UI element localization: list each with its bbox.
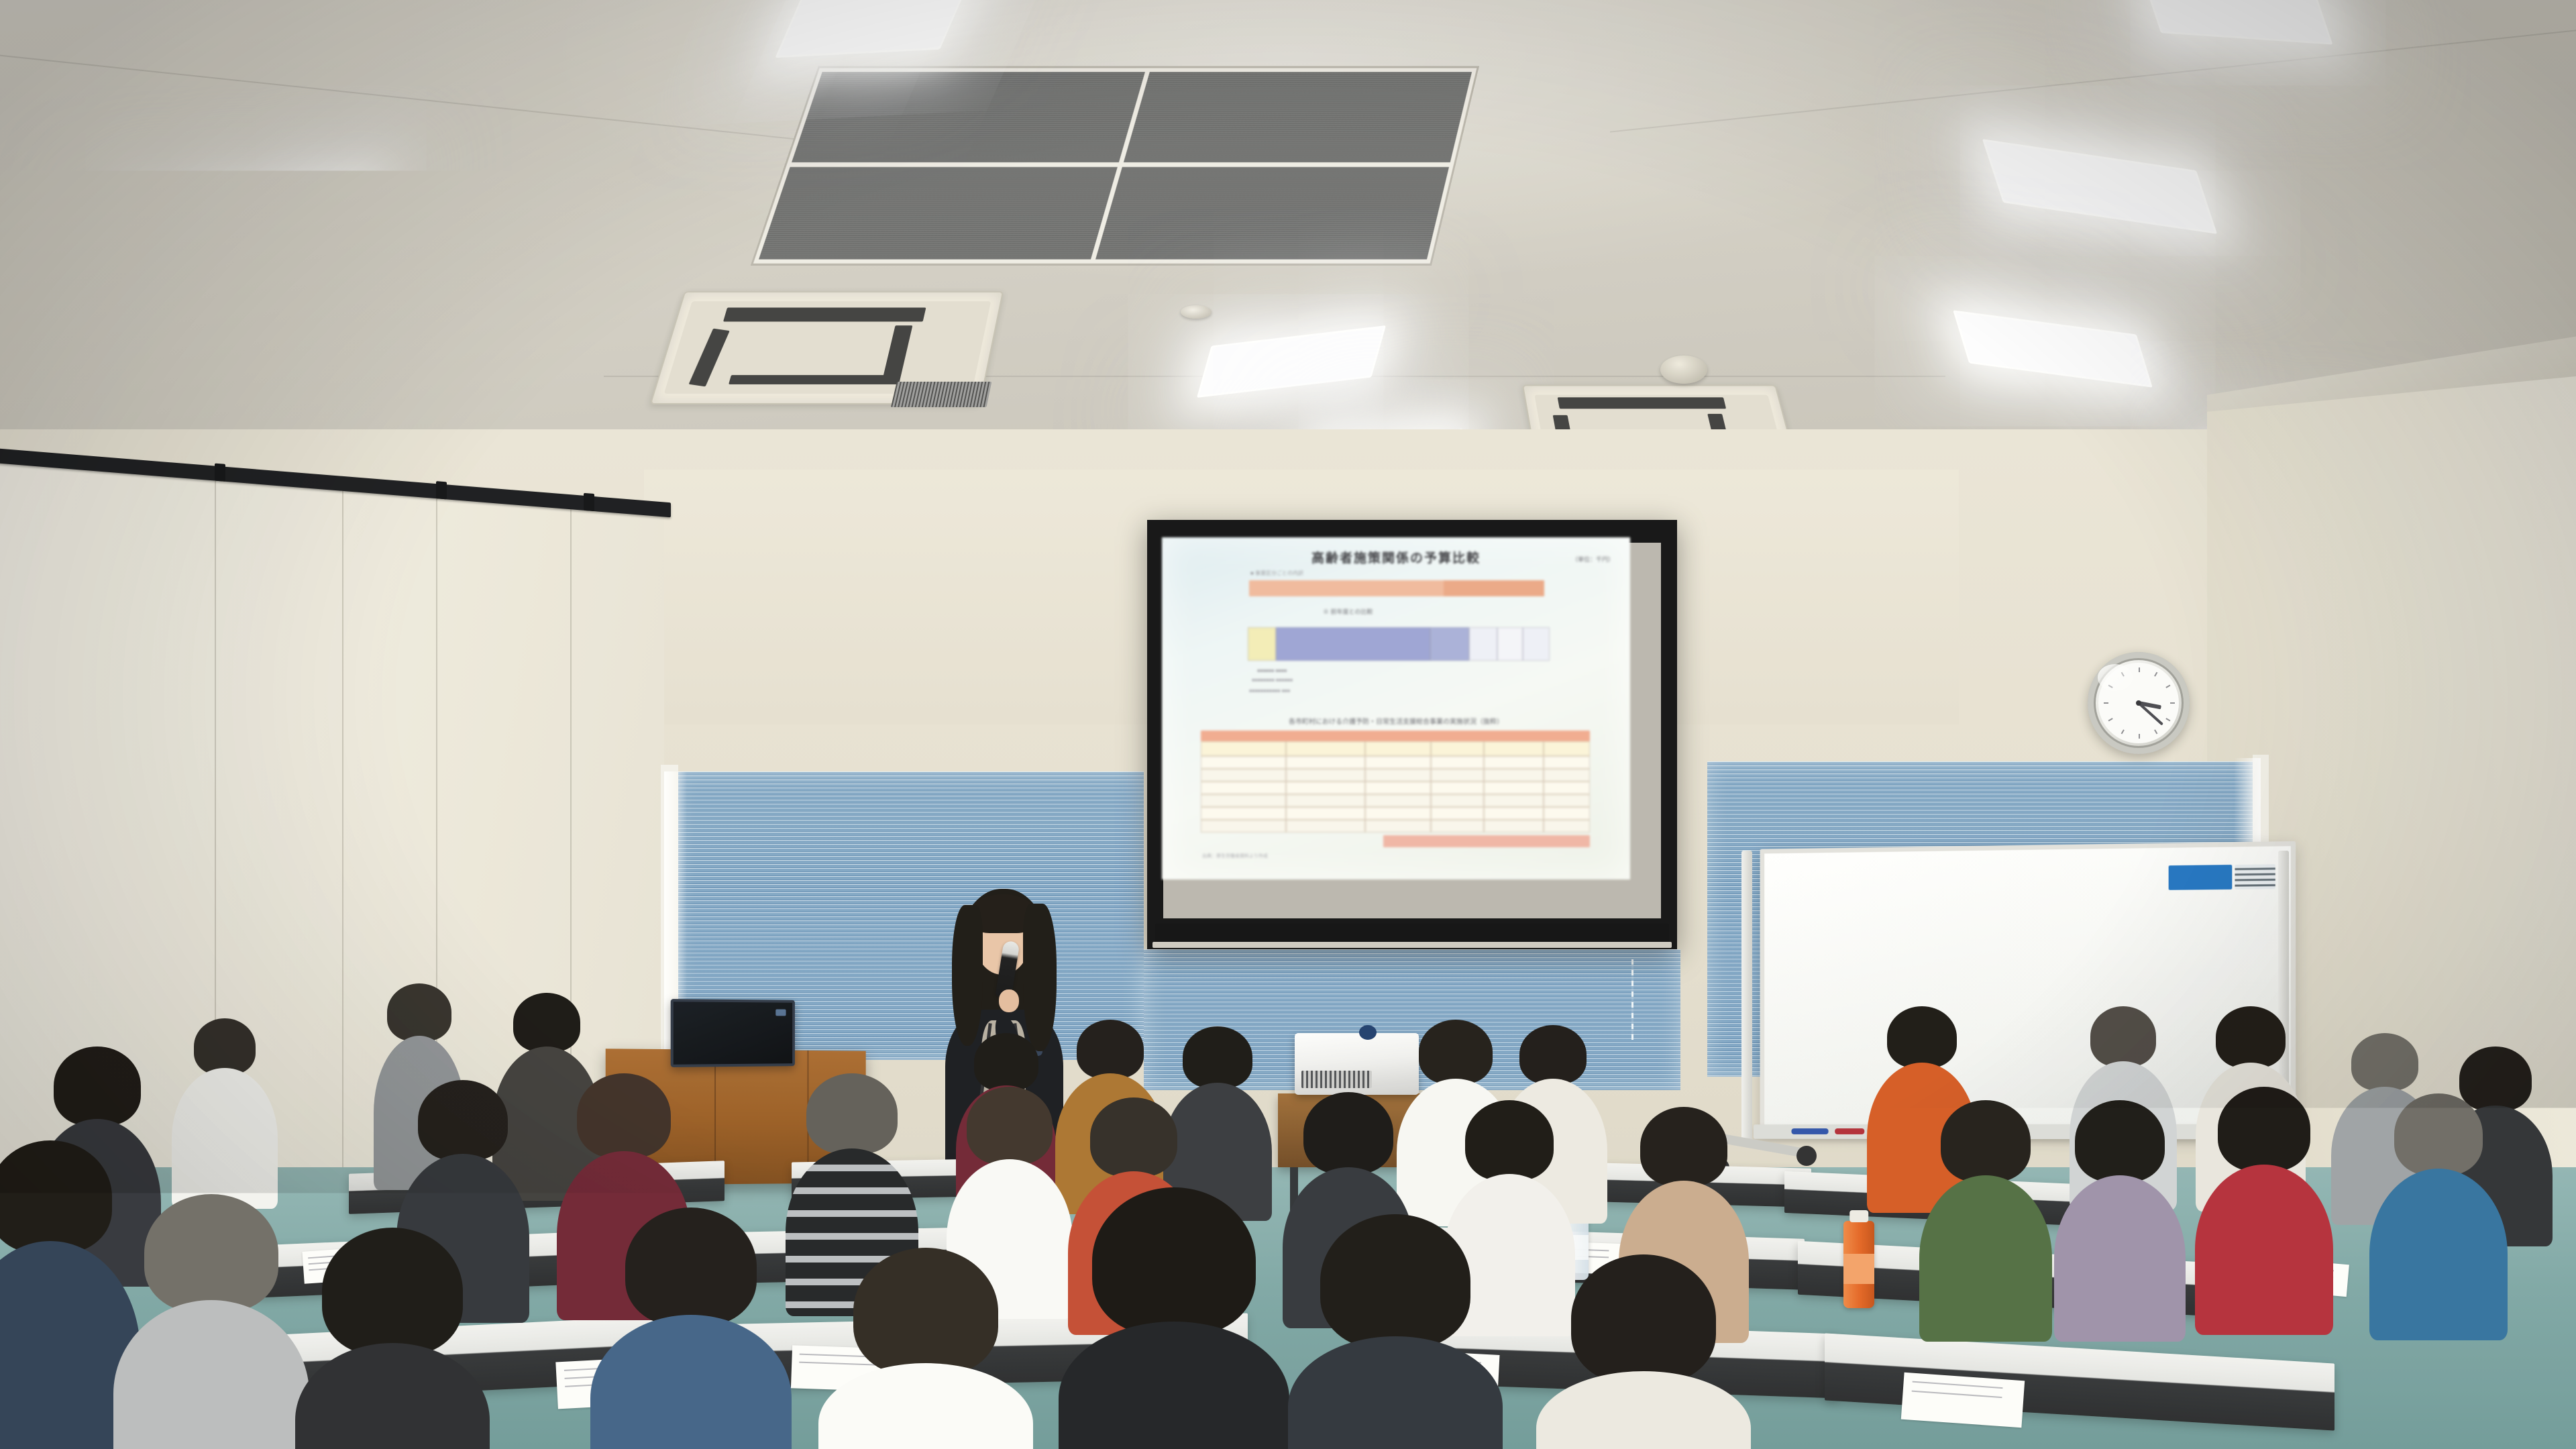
attendee-dark-back bbox=[1073, 1187, 1275, 1449]
attendee-dark-coat bbox=[309, 1228, 476, 1449]
attendee-grey-jacket bbox=[127, 1194, 295, 1449]
attendee-blue-jacket bbox=[604, 1207, 778, 1449]
magnet-strip-icon[interactable] bbox=[2235, 864, 2275, 890]
slide-mid-caption: 各市町村における介護予防・日常生活支援総合事業の実施状況（抜粋） bbox=[1289, 716, 1503, 726]
red-marker-icon[interactable] bbox=[1835, 1128, 1864, 1134]
air-conditioner-cassette-left bbox=[650, 291, 1004, 405]
slide-table-top bbox=[1248, 627, 1550, 661]
ceiling-return-air-grille bbox=[751, 66, 1479, 266]
attendee-dark-coat bbox=[1966, 1254, 2160, 1449]
blue-magnet-icon[interactable] bbox=[2169, 865, 2233, 890]
seminar-room-photo: 高齢者施策関係の予算比較 （単位：千円） ■ 事業区分ごとの内訳 ※ 前年度との… bbox=[0, 0, 2576, 1449]
slide-band-orange-2 bbox=[1201, 731, 1590, 741]
attendee-off-white bbox=[1550, 1254, 1737, 1449]
slide-title: 高齢者施策関係の予算比較 bbox=[1311, 548, 1481, 566]
blind-pull-cord[interactable] bbox=[1631, 959, 1633, 1040]
attendee-green-coat bbox=[1717, 1275, 1905, 1449]
projected-slide: 高齢者施策関係の予算比較 （単位：千円） ■ 事業区分ごとの内訳 ※ 前年度との… bbox=[1162, 537, 1630, 879]
attendee-white-shirt bbox=[174, 1018, 275, 1199]
slide-banner-caption: ■ 事業区分ごとの内訳 bbox=[1250, 570, 1303, 577]
attendee-blue-jacket bbox=[0, 1140, 127, 1449]
whiteboard-caster-right bbox=[1796, 1146, 1817, 1166]
whiteboard-post-left bbox=[1741, 851, 1752, 1146]
presenter-laptop[interactable] bbox=[671, 999, 795, 1067]
attendee-red-sweater bbox=[2375, 1241, 2576, 1449]
attendee-green-coat bbox=[2167, 1261, 2361, 1449]
slide-table-header-row bbox=[1201, 741, 1590, 756]
slide-band-total bbox=[1383, 835, 1590, 847]
attendee-white-sweater bbox=[832, 1248, 1020, 1449]
wall-clock bbox=[2088, 652, 2190, 754]
projection-screen: 高齢者施策関係の予算比較 （単位：千円） ■ 事業区分ごとの内訳 ※ 前年度との… bbox=[1147, 520, 1677, 949]
slide-footer-note: 出典：厚生労働省資料より作成 bbox=[1202, 853, 1268, 859]
attendee-charcoal bbox=[1301, 1214, 1489, 1449]
slide-note-b: ※ 前年度との比較 bbox=[1323, 607, 1373, 616]
projector-lens-icon bbox=[1359, 1025, 1377, 1040]
slide-band-orange-1b bbox=[1444, 580, 1544, 596]
ceiling-sensor-icon bbox=[1181, 305, 1212, 319]
slide-subtitle: （単位：千円） bbox=[1572, 555, 1614, 563]
blue-marker-icon[interactable] bbox=[1791, 1128, 1828, 1134]
data-projector[interactable] bbox=[1295, 1033, 1419, 1095]
ceiling-speaker-icon bbox=[1660, 356, 1707, 384]
